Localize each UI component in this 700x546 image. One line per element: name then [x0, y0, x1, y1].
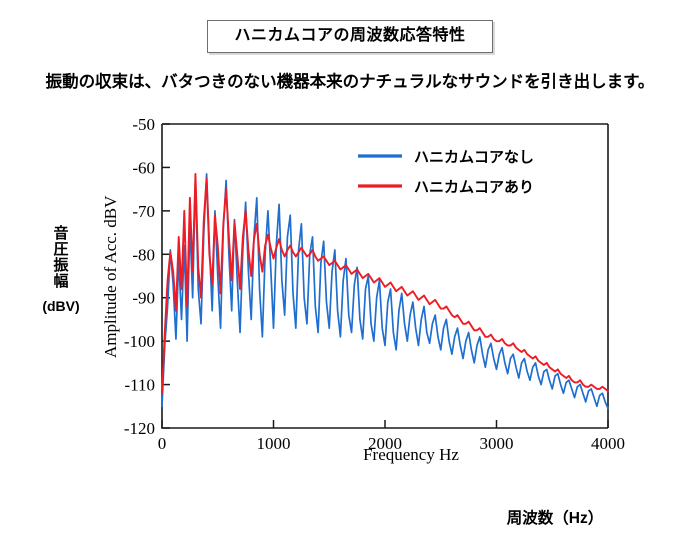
y-tick-label: -70: [132, 202, 155, 221]
page-title: ハニカムコアの周波数応答特性: [207, 20, 492, 53]
y-tick-label: -50: [132, 115, 155, 134]
subtitle-text: 振動の収束は、バタつきのない機器本来のナチュラルなサウンドを引き出します。: [0, 68, 700, 92]
title-bar: ハニカムコアの周波数応答特性: [0, 20, 700, 53]
x-axis-title: Frequency Hz: [363, 445, 459, 464]
y-tick-label: -60: [132, 158, 155, 177]
legend-label-no-core: ハニカムコアなし: [414, 149, 534, 166]
y-tick-label: -120: [124, 419, 155, 438]
x-tick-label: 1000: [257, 434, 291, 453]
y-axis-title: Amplitude of Acc. dBV: [101, 195, 120, 358]
series-group: [162, 174, 608, 409]
y-axis-caption-vertical: 音圧振幅: [53, 226, 70, 290]
x-axis-caption: 周波数（Hz）: [430, 506, 680, 528]
y-tick-label: -90: [132, 289, 155, 308]
y-axis-caption-group: 音圧振幅 (dBV): [22, 226, 100, 314]
y-axis-caption-unit: (dBV): [22, 298, 100, 314]
series-line-with-core: [162, 174, 608, 393]
chart-legend: ハニカムコアなしハニカムコアあり: [358, 149, 534, 196]
x-tick-label: 4000: [591, 434, 625, 453]
y-tick-label: -80: [132, 245, 155, 264]
frequency-response-chart: -50-60-70-80-90-100-110-120 010002000300…: [96, 108, 626, 478]
x-tick-label: 3000: [480, 434, 514, 453]
legend-label-with-core: ハニカムコアあり: [414, 179, 534, 196]
x-tick-label: 0: [158, 434, 167, 453]
chart-svg: -50-60-70-80-90-100-110-120 010002000300…: [96, 108, 626, 478]
series-line-no-core: [162, 174, 608, 409]
y-tick-label: -100: [124, 332, 155, 351]
y-tick-label: -110: [124, 376, 155, 395]
